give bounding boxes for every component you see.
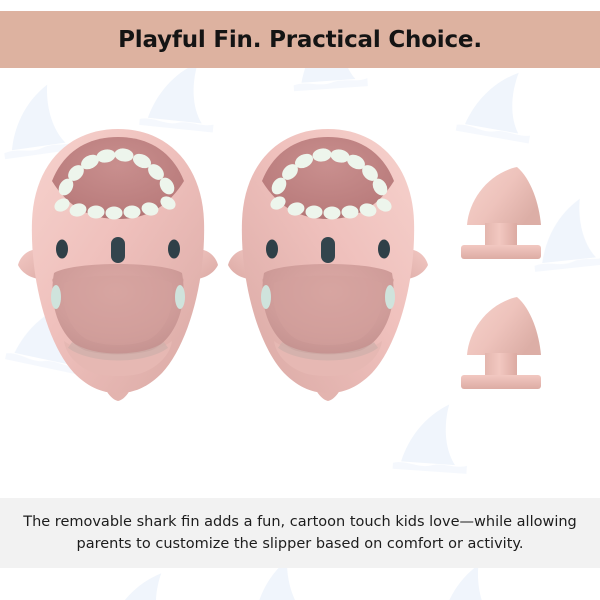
slipper-left[interactable] <box>18 123 218 413</box>
fin-base-plate <box>461 245 541 259</box>
page-title: Playful Fin. Practical Choice. <box>118 27 482 53</box>
eye-left <box>56 240 68 259</box>
side-pad-left <box>385 285 395 309</box>
side-pad-left <box>51 285 61 309</box>
fin-stem <box>485 223 517 247</box>
detachable-fin-bottom[interactable] <box>455 293 585 408</box>
slipper-left-graphic <box>18 123 218 413</box>
caption-band: The removable shark fin adds a fun, cart… <box>0 498 600 568</box>
fin-dome <box>467 297 541 355</box>
nostril-slot <box>321 237 335 263</box>
product-stage <box>0 68 600 498</box>
caption-text: The removable shark fin adds a fun, cart… <box>16 511 584 556</box>
detachable-fin-top[interactable] <box>455 163 585 278</box>
fin-base-plate <box>461 375 541 389</box>
header-banner: Playful Fin. Practical Choice. <box>0 11 600 68</box>
nostril-slot <box>111 237 125 263</box>
side-pad-right <box>175 285 185 309</box>
slipper-right[interactable] <box>228 123 428 413</box>
eye-left <box>378 240 390 259</box>
fin-stem <box>485 353 517 377</box>
fin-dome <box>467 167 541 225</box>
eye-right <box>168 240 180 259</box>
eye-right <box>266 240 278 259</box>
product-feature-image: Playful Fin. Practical Choice. <box>0 0 600 600</box>
slipper-right-graphic <box>228 123 428 413</box>
detachable-fin-bottom-graphic <box>455 293 585 403</box>
detachable-fin-top-graphic <box>455 163 585 273</box>
side-pad-right <box>261 285 271 309</box>
